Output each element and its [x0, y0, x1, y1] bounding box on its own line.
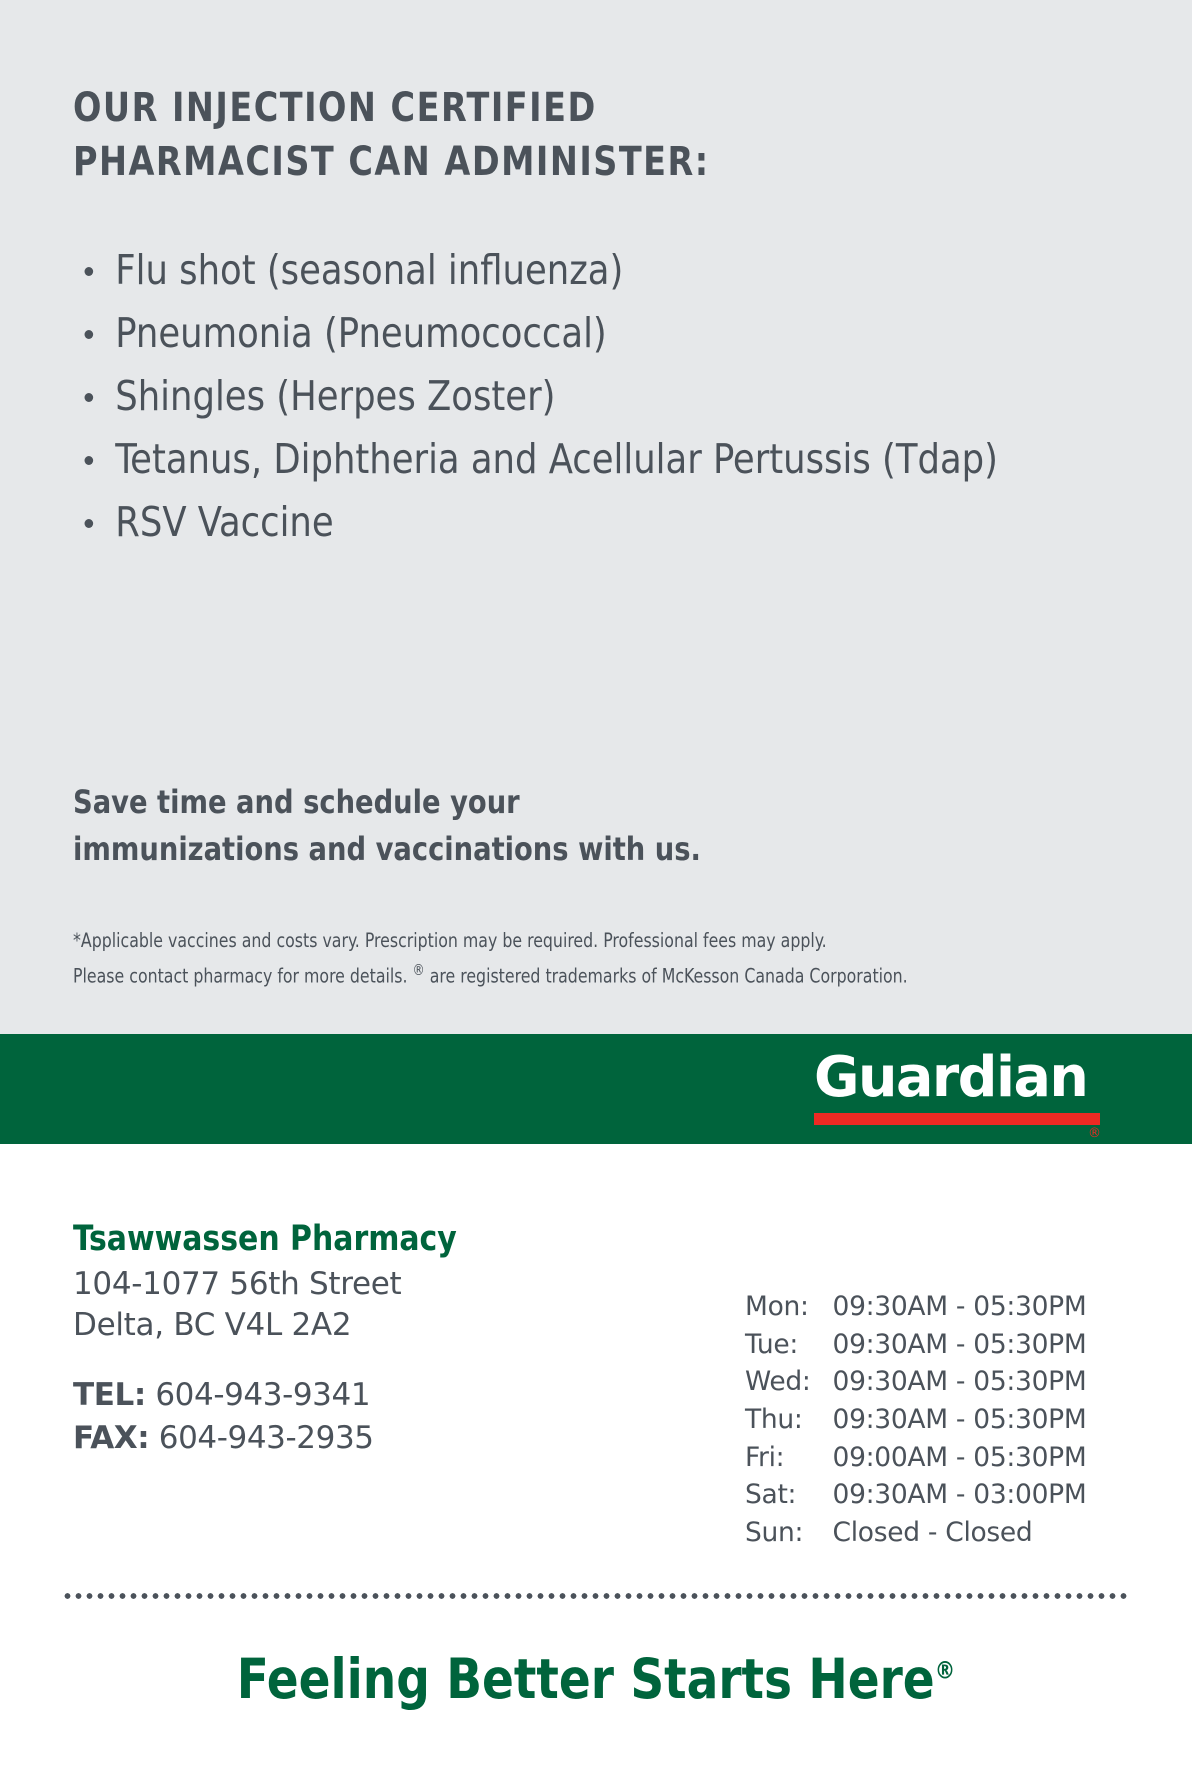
table-row: Mon: 09:30AM - 05:30PM: [745, 1288, 1086, 1326]
hours-day-label: Fri:: [745, 1439, 833, 1477]
store-fax: FAX: 604-943-2935: [73, 1417, 673, 1459]
store-fax-value: 604-943-2935: [159, 1420, 374, 1456]
guardian-logo-underline: ®: [814, 1113, 1100, 1125]
registered-trademark-icon: ®: [935, 1657, 956, 1685]
list-item-label: Pneumonia (Pneumococcal): [115, 309, 606, 357]
store-address-line-1: 104-1077 56th Street: [73, 1264, 673, 1305]
list-item: Pneumonia (Pneumococcal): [73, 306, 1043, 361]
bullet-dot-icon: [85, 393, 94, 402]
hours-time-value: 09:30AM - 03:00PM: [833, 1476, 1087, 1514]
store-name: Tsawwassen Pharmacy: [73, 1218, 643, 1260]
hours-day-label: Thu:: [745, 1401, 833, 1439]
registered-trademark-icon: ®: [1088, 1126, 1101, 1141]
guardian-logo: Guardian ®: [814, 1050, 1106, 1125]
hours-time-value: Closed - Closed: [833, 1514, 1087, 1552]
store-telephone: TEL: 604-943-9341: [73, 1374, 673, 1416]
flyer-page: OUR INJECTION CERTIFIED PHARMACIST CAN A…: [0, 0, 1192, 1785]
store-hours-table: Mon: 09:30AM - 05:30PM Tue: 09:30AM - 05…: [745, 1288, 1086, 1551]
hours-time-value: 09:30AM - 05:30PM: [833, 1326, 1087, 1364]
bullet-dot-icon: [85, 456, 94, 465]
hours-day-label: Tue:: [745, 1326, 833, 1364]
disclaimer-line-2-part-1: Please contact pharmacy for more details…: [73, 964, 413, 987]
table-row: Thu: 09:30AM - 05:30PM: [745, 1401, 1086, 1439]
bullet-dot-icon: [85, 519, 94, 528]
list-item-label: Flu shot (seasonal influenza): [115, 246, 623, 294]
list-item: RSV Vaccine: [73, 495, 1043, 550]
disclaimer-text: *Applicable vaccines and costs vary. Pre…: [73, 924, 1027, 993]
hours-time-value: 09:30AM - 05:30PM: [833, 1401, 1087, 1439]
list-item-label: Tetanus, Diphtheria and Acellular Pertus…: [115, 435, 998, 483]
guardian-logo-wordmark: Guardian: [814, 1050, 1103, 1106]
hours-day-label: Sat:: [745, 1476, 833, 1514]
table-row: Fri: 09:00AM - 05:30PM: [745, 1439, 1086, 1477]
brand-band: Guardian ®: [0, 1034, 1192, 1144]
page-title-line-2: PHARMACIST CAN ADMINISTER:: [73, 136, 938, 190]
bullet-dot-icon: [85, 330, 94, 339]
hours-day-label: Sun:: [745, 1514, 833, 1552]
store-telephone-value: 604-943-9341: [155, 1377, 370, 1413]
table-row: Tue: 09:30AM - 05:30PM: [745, 1326, 1086, 1364]
store-fax-label: FAX:: [73, 1420, 149, 1456]
store-address-line-2: Delta, BC V4L 2A2: [73, 1305, 673, 1346]
list-item: Shingles (Herpes Zoster): [73, 369, 1043, 424]
brand-tagline-text: Feeling Better Starts Here: [237, 1647, 935, 1711]
table-row: Sat: 09:30AM - 03:00PM: [745, 1476, 1086, 1514]
list-item-label: RSV Vaccine: [115, 498, 333, 546]
hours-time-value: 09:30AM - 05:30PM: [833, 1363, 1087, 1401]
table-row: Wed: 09:30AM - 05:30PM: [745, 1363, 1086, 1401]
table-row: Sun: Closed - Closed: [745, 1514, 1086, 1552]
list-item-label: Shingles (Herpes Zoster): [115, 372, 555, 420]
dotted-divider: [62, 1592, 1130, 1600]
schedule-callout: Save time and schedule your immunization…: [73, 779, 881, 874]
hours-day-label: Mon:: [745, 1288, 833, 1326]
immunization-panel: OUR INJECTION CERTIFIED PHARMACIST CAN A…: [0, 0, 1192, 1034]
schedule-callout-line-2: immunizations and vaccinations with us.: [73, 826, 881, 873]
store-info: Tsawwassen Pharmacy 104-1077 56th Street…: [73, 1218, 673, 1459]
hours-time-value: 09:00AM - 05:30PM: [833, 1439, 1087, 1477]
list-item: Flu shot (seasonal influenza): [73, 243, 1043, 298]
disclaimer-line-2: Please contact pharmacy for more details…: [73, 958, 1027, 993]
disclaimer-line-2-part-2: are registered trademarks of McKesson Ca…: [425, 964, 908, 987]
schedule-callout-line-1: Save time and schedule your: [73, 779, 881, 826]
registered-trademark-icon: ®: [413, 961, 425, 979]
page-title-line-1: OUR INJECTION CERTIFIED: [73, 82, 938, 136]
store-contact: TEL: 604-943-9341 FAX: 604-943-2935: [73, 1374, 673, 1458]
vaccine-list: Flu shot (seasonal influenza) Pneumonia …: [73, 243, 1083, 558]
disclaimer-line-1: *Applicable vaccines and costs vary. Pre…: [73, 924, 1027, 958]
page-title: OUR INJECTION CERTIFIED PHARMACIST CAN A…: [73, 82, 938, 189]
bullet-dot-icon: [85, 267, 94, 276]
hours-day-label: Wed:: [745, 1363, 833, 1401]
hours-time-value: 09:30AM - 05:30PM: [833, 1288, 1087, 1326]
list-item: Tetanus, Diphtheria and Acellular Pertus…: [73, 432, 1043, 487]
brand-tagline: Feeling Better Starts Here®: [30, 1646, 1162, 1712]
store-telephone-label: TEL:: [73, 1377, 146, 1413]
